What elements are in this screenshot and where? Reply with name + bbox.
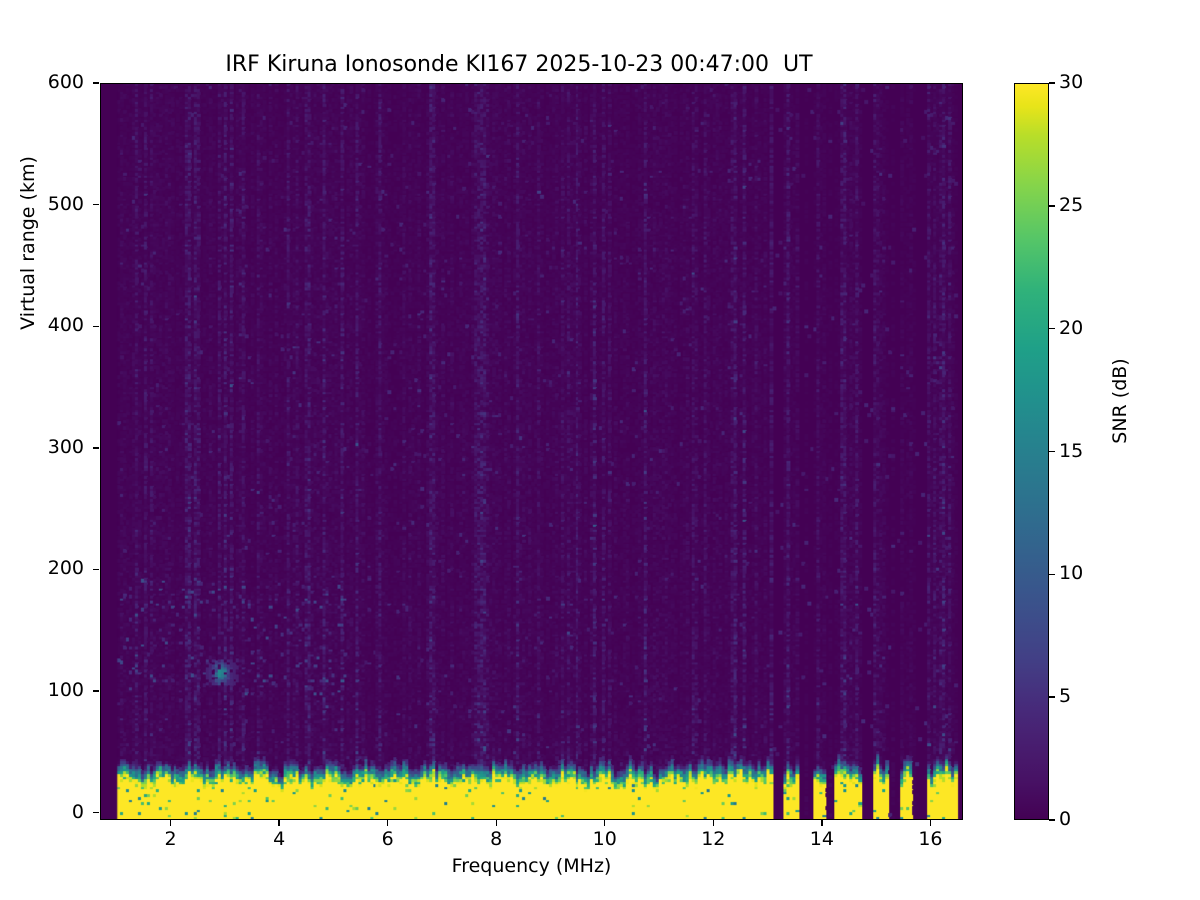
y-tick-mark: [93, 812, 99, 813]
colorbar-tick-mark: [1049, 574, 1055, 575]
x-tick-label: 8: [466, 828, 526, 850]
colorbar-tick-label: 5: [1059, 685, 1071, 707]
colorbar-tick-mark: [1049, 451, 1055, 452]
y-tick-label: 300: [14, 436, 84, 458]
x-tick-label: 6: [358, 828, 418, 850]
colorbar: [1014, 83, 1049, 820]
colorbar-tick-label: 0: [1059, 808, 1071, 830]
x-tick-label: 16: [900, 828, 960, 850]
x-tick-label: 14: [792, 828, 852, 850]
y-tick-label: 200: [14, 557, 84, 579]
x-tick-mark: [604, 820, 605, 826]
colorbar-tick-mark: [1049, 696, 1055, 697]
y-tick-label: 100: [14, 679, 84, 701]
y-tick-mark: [93, 82, 99, 83]
y-tick-mark: [93, 326, 99, 327]
y-tick-mark: [93, 690, 99, 691]
colorbar-tick-label: 25: [1059, 194, 1083, 216]
ionogram-heatmap: [101, 84, 962, 819]
colorbar-tick-label: 30: [1059, 71, 1083, 93]
y-tick-mark: [93, 569, 99, 570]
x-tick-mark: [821, 820, 822, 826]
x-tick-mark: [713, 820, 714, 826]
x-tick-mark: [387, 820, 388, 826]
ionogram-plot-area: [100, 83, 963, 820]
y-tick-mark: [93, 447, 99, 448]
x-tick-label: 2: [141, 828, 201, 850]
x-tick-mark: [170, 820, 171, 826]
colorbar-tick-label: 20: [1059, 317, 1083, 339]
x-tick-mark: [278, 820, 279, 826]
title-line-1: IRF Kiruna Ionosonde KI167 2025-10-23 00…: [225, 52, 812, 77]
colorbar-tick-mark: [1049, 82, 1055, 83]
x-tick-mark: [496, 820, 497, 826]
y-tick-mark: [93, 204, 99, 205]
y-tick-label: 0: [14, 801, 84, 823]
x-tick-label: 10: [575, 828, 635, 850]
y-axis-label: Virtual range (km): [17, 123, 39, 363]
colorbar-label: SNR (dB): [1109, 281, 1131, 521]
y-tick-label: 600: [14, 71, 84, 93]
x-tick-label: 4: [249, 828, 309, 850]
x-tick-mark: [930, 820, 931, 826]
ionogram-figure: IRF Kiruna Ionosonde KI167 2025-10-23 00…: [0, 0, 1200, 900]
colorbar-tick-label: 15: [1059, 440, 1083, 462]
colorbar-tick-label: 10: [1059, 562, 1083, 584]
x-tick-label: 12: [683, 828, 743, 850]
colorbar-tick-mark: [1049, 328, 1055, 329]
colorbar-tick-mark: [1049, 819, 1055, 820]
colorbar-tick-mark: [1049, 205, 1055, 206]
x-axis-label: Frequency (MHz): [100, 855, 963, 877]
